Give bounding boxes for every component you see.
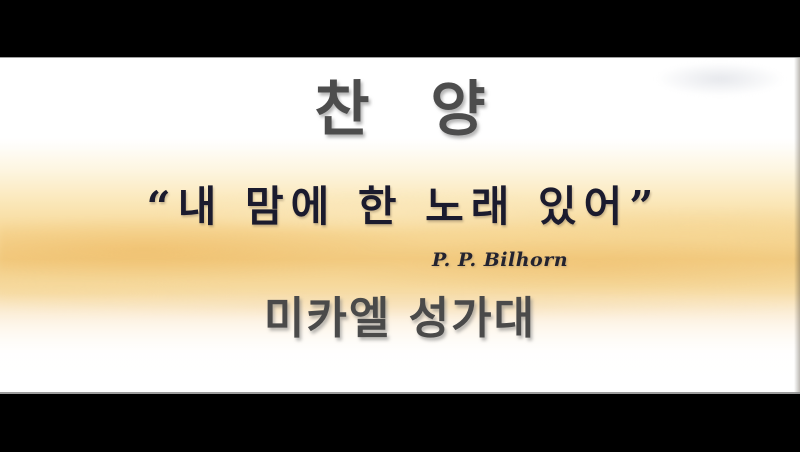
performer-name: 미카엘 성가대 xyxy=(0,294,800,344)
slide-heading: 찬 양 xyxy=(0,78,800,142)
title-slide: 찬 양 “내 맘에 한 노래 있어” P. P. Bilhorn 미카엘 성가대 xyxy=(0,57,800,394)
composer-credit: P. P. Bilhorn xyxy=(0,249,800,271)
song-title: “내 맘에 한 노래 있어” xyxy=(0,183,800,231)
slide-text-layer: 찬 양 “내 맘에 한 노래 있어” P. P. Bilhorn 미카엘 성가대 xyxy=(0,57,800,394)
letterbox-bar-top xyxy=(0,0,800,57)
letterbox-bar-bottom xyxy=(0,394,800,452)
video-frame: 찬 양 “내 맘에 한 노래 있어” P. P. Bilhorn 미카엘 성가대 xyxy=(0,0,800,452)
